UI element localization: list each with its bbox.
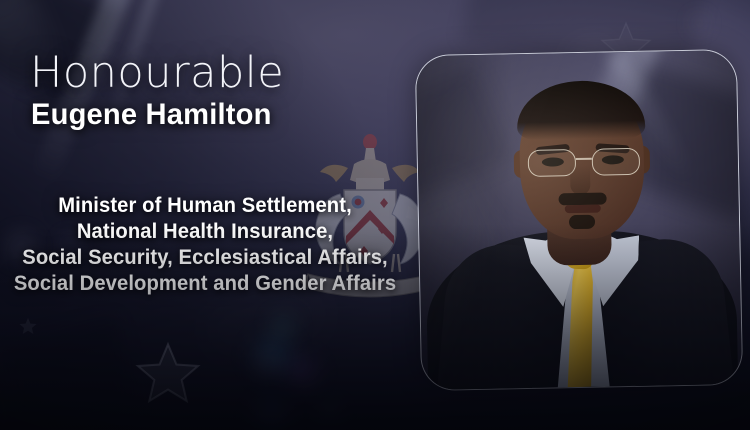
title-card: Honourable Eugene Hamilton Minister of H…: [0, 0, 750, 430]
background-bottom-fade: [0, 0, 750, 430]
